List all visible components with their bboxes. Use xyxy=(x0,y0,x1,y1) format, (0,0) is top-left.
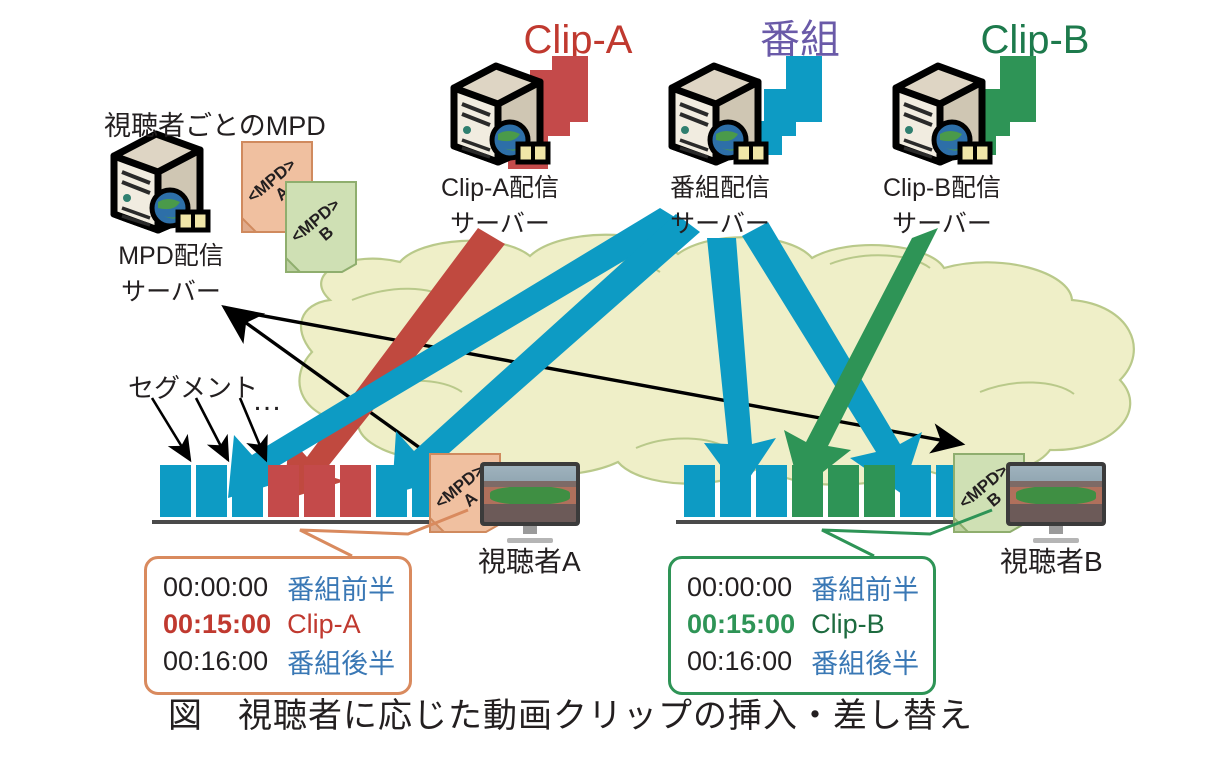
figure-caption: 図 視聴者に応じた動画クリップの挿入・差し替え xyxy=(168,688,973,737)
viewer-b-legend: 00:00:00番組前半00:15:00Clip-B00:16:00番組後半 xyxy=(668,556,936,695)
legend-row: 00:15:00Clip-B xyxy=(687,608,919,641)
viewer-b-leader-line xyxy=(0,0,1230,778)
legend-value: Clip-B xyxy=(811,608,919,641)
figure-canvas: Clip-A 番組 Clip-B xyxy=(0,0,1230,778)
legend-value: 番組後半 xyxy=(811,641,919,682)
legend-row: 00:16:00番組後半 xyxy=(687,641,919,682)
legend-time: 00:15:00 xyxy=(687,608,811,641)
legend-time: 00:16:00 xyxy=(687,641,811,682)
legend-row: 00:00:00番組前半 xyxy=(687,567,919,608)
legend-value: 番組前半 xyxy=(811,567,919,608)
legend-time: 00:00:00 xyxy=(687,567,811,608)
